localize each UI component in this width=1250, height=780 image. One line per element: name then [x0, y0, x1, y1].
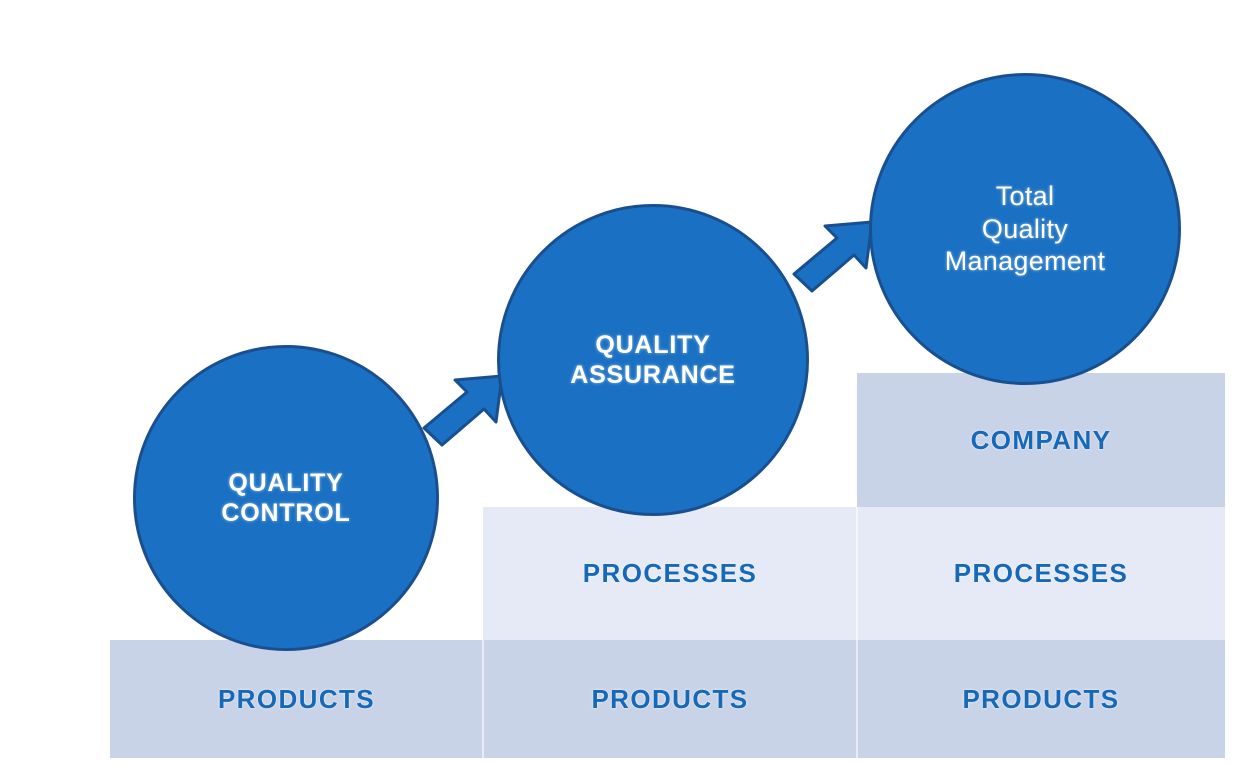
column-seam-1 [482, 640, 484, 758]
circle-label-line1: QUALITY [221, 468, 350, 499]
column-seam-2 [856, 507, 858, 758]
circle-label-line2: ASSURANCE [570, 360, 736, 391]
tier-col2-processes: PROCESSES [483, 507, 857, 640]
tier-col3-products: PRODUCTS [857, 640, 1225, 758]
circle-label-group: QUALITY CONTROL [209, 468, 362, 529]
circle-label-line2: CONTROL [221, 498, 350, 529]
circle-label-line2: Quality [945, 213, 1106, 246]
stage-circle-quality-assurance[interactable]: QUALITY ASSURANCE [497, 204, 809, 516]
tier-label: PRODUCTS [218, 684, 375, 715]
tier-col3-processes: PROCESSES [857, 507, 1225, 640]
circle-label-group: Total Quality Management [933, 180, 1118, 279]
tier-label: COMPANY [971, 425, 1112, 456]
stage-circle-quality-control[interactable]: QUALITY CONTROL [133, 345, 439, 651]
circle-label-line1: QUALITY [570, 330, 736, 361]
diagram-canvas: COMPANY PROCESSES PROCESSES PRODUCTS PRO… [0, 0, 1250, 780]
tier-label: PRODUCTS [962, 684, 1119, 715]
tier-label: PROCESSES [954, 558, 1128, 589]
tier-label: PROCESSES [583, 558, 757, 589]
tier-col2-products: PRODUCTS [483, 640, 857, 758]
stage-circle-total-quality-management[interactable]: Total Quality Management [869, 73, 1181, 385]
circle-label-line1: Total [945, 180, 1106, 213]
tier-col3-company: COMPANY [857, 373, 1225, 507]
circle-label-line3: Management [945, 245, 1106, 278]
tier-col1-products: PRODUCTS [110, 640, 483, 758]
tier-label: PRODUCTS [591, 684, 748, 715]
circle-label-group: QUALITY ASSURANCE [558, 330, 748, 391]
